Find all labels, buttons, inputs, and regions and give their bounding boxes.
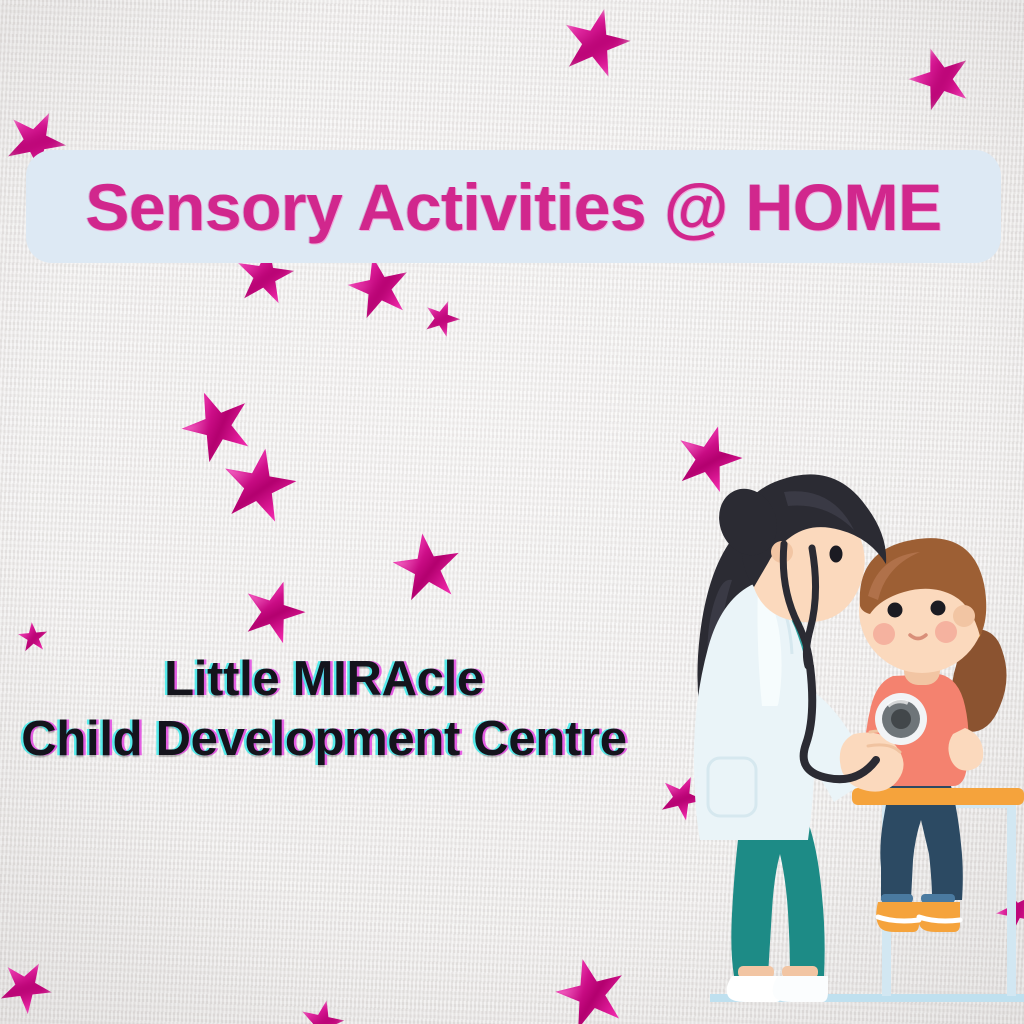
brand-name-block: Little MIRAcle Child Development Centre: [0, 650, 648, 770]
doctor-shoe-right: [773, 976, 828, 1002]
stethoscope-chestpiece: [875, 693, 927, 745]
child-cheek-left: [873, 623, 895, 645]
doctor-examining-child-illustration: [672, 470, 1024, 1024]
doctor-figure: [694, 474, 904, 1002]
page-title: Sensory Activities @ HOME: [85, 169, 941, 245]
child-ear: [953, 605, 975, 627]
title-banner: Sensory Activities @ HOME: [26, 150, 1001, 263]
child-arm: [948, 728, 983, 771]
child-cheek-right: [935, 621, 957, 643]
child-cuff-left: [881, 894, 913, 903]
doctor-eye: [830, 546, 843, 563]
brand-line-1: Little MIRAcle: [0, 650, 648, 710]
brand-line-2: Child Development Centre: [0, 710, 648, 770]
doctor-scrub-pants: [731, 822, 824, 976]
child-eye-right: [931, 601, 946, 616]
poster-canvas: Sensory Activities @ HOME Little MIRAcle…: [0, 0, 1024, 1024]
child-eye-left: [888, 603, 903, 618]
child-cuff-right: [921, 894, 955, 903]
